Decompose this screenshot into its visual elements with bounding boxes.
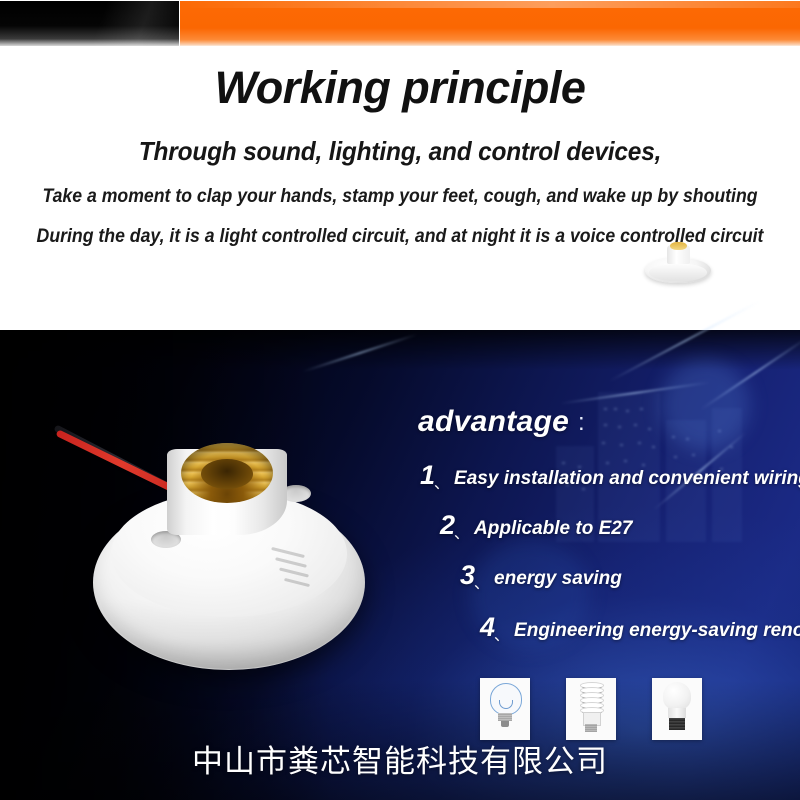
advantage-title: advantage bbox=[418, 405, 569, 439]
led-bulb-icon bbox=[652, 678, 702, 740]
top-banner bbox=[0, 0, 800, 47]
banner-black-panel bbox=[0, 1, 179, 46]
advantage-item-number: 1 bbox=[420, 460, 435, 490]
advantage-item-text: Easy installation and convenient wiring bbox=[454, 468, 800, 489]
advantage-colon: : bbox=[578, 409, 585, 437]
company-name: 中山市粪芯智能科技有限公司 bbox=[0, 736, 800, 781]
e27-lamp-holder-photo bbox=[55, 415, 375, 690]
advantage-item-2: 2、Applicable to E27 bbox=[440, 510, 632, 541]
advantage-item-text: energy saving bbox=[494, 568, 622, 589]
advantage-item-number: 2 bbox=[440, 510, 455, 540]
cfl-spiral-bulb-icon bbox=[566, 678, 616, 740]
socket-cavity bbox=[201, 459, 253, 489]
advantage-item-mark: 、 bbox=[434, 475, 449, 492]
description-line-1: Take a moment to clap your hands, stamp … bbox=[28, 186, 772, 208]
advantage-item-text: Engineering energy-saving renovation bbox=[514, 620, 800, 641]
advantage-item-mark: 、 bbox=[474, 575, 489, 592]
advantage-item-number: 3 bbox=[460, 560, 475, 590]
advantage-item-mark: 、 bbox=[454, 525, 469, 542]
page-title: Working principle bbox=[0, 62, 800, 114]
subtitle-line: Through sound, lighting, and control dev… bbox=[24, 136, 776, 167]
bulb-thumbnail-row bbox=[480, 678, 702, 740]
banner-orange-panel bbox=[180, 1, 800, 46]
advantage-item-4: 4、Engineering energy-saving renovation bbox=[480, 612, 800, 643]
incandescent-bulb-icon bbox=[480, 678, 530, 740]
advantage-item-mark: 、 bbox=[494, 627, 509, 644]
advantage-item-3: 3、energy saving bbox=[460, 560, 622, 591]
advantage-item-1: 1、Easy installation and convenient wirin… bbox=[420, 460, 800, 491]
background-glow bbox=[660, 360, 750, 450]
advantage-item-number: 4 bbox=[480, 612, 495, 642]
description-line-2: During the day, it is a light controlled… bbox=[28, 226, 772, 248]
advantage-item-text: Applicable to E27 bbox=[474, 518, 632, 539]
